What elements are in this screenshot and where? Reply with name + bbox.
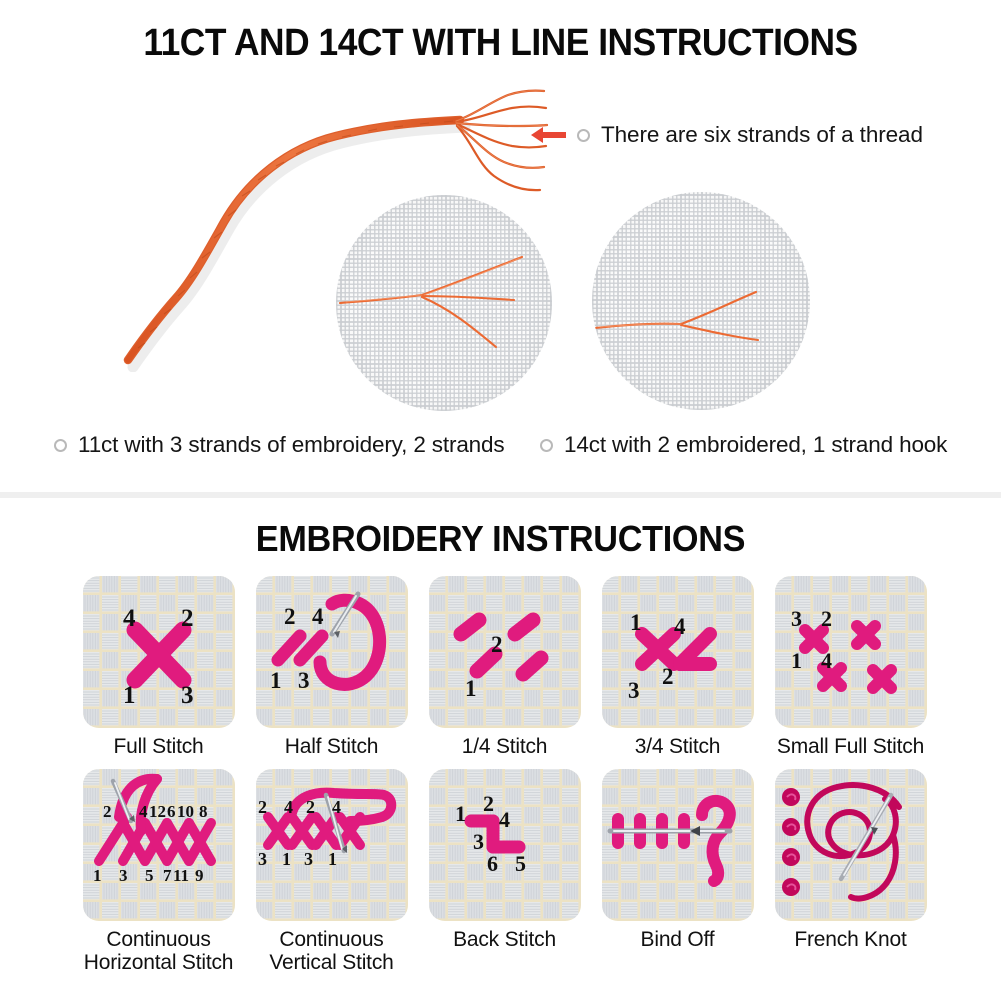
stitch-label-quarter-stitch: 1/4 Stitch bbox=[462, 735, 548, 759]
callout-six-strands: There are six strands of a thread bbox=[530, 122, 923, 148]
stitch-tile-quarter-stitch: 2 1 bbox=[429, 576, 581, 728]
fabric-swatch-14ct bbox=[592, 192, 810, 410]
ring-bullet-icon bbox=[54, 439, 67, 452]
arrow-left-icon bbox=[530, 125, 568, 145]
svg-text:3: 3 bbox=[298, 668, 310, 693]
svg-text:2: 2 bbox=[181, 605, 194, 632]
svg-text:5: 5 bbox=[145, 866, 154, 885]
stitch-grid: 4 2 1 3 Full Stitch bbox=[72, 576, 937, 975]
svg-text:4: 4 bbox=[123, 605, 136, 632]
stitch-cell-quarter-stitch: 2 1 1/4 Stitch bbox=[418, 576, 591, 759]
stitch-label-half-stitch: Half Stitch bbox=[285, 735, 379, 759]
svg-text:1: 1 bbox=[328, 849, 337, 869]
svg-text:10: 10 bbox=[177, 802, 194, 821]
caption-11ct: 11ct with 3 strands of embroidery, 2 str… bbox=[54, 432, 505, 458]
full-stitch-diagram: 4 2 1 3 bbox=[83, 576, 235, 728]
stitch-label-continuous-vertical-stitch: ContinuousVertical Stitch bbox=[269, 928, 393, 975]
svg-text:4: 4 bbox=[821, 648, 832, 673]
stitch-label-full-stitch: Full Stitch bbox=[114, 735, 204, 759]
stitch-cell-small-full-stitch: 3 2 1 4 Small Full Stitch bbox=[764, 576, 937, 759]
three-quarter-stitch-diagram: 1 4 2 3 bbox=[602, 576, 754, 728]
stitch-label-small-full-stitch: Small Full Stitch bbox=[777, 735, 924, 759]
stitch-cell-bind-off: Bind Off bbox=[591, 769, 764, 975]
svg-text:2: 2 bbox=[491, 632, 503, 657]
stitch-tile-half-stitch: 2 4 1 3 bbox=[256, 576, 408, 728]
svg-text:1: 1 bbox=[282, 849, 291, 869]
ring-bullet-icon bbox=[577, 129, 590, 142]
french-knot-dots bbox=[782, 788, 800, 896]
stitch-label-three-quarter-stitch: 3/4 Stitch bbox=[635, 735, 721, 759]
small-full-stitch-diagram: 3 2 1 4 bbox=[775, 576, 927, 728]
needle-icon bbox=[841, 795, 891, 879]
svg-text:4: 4 bbox=[284, 797, 293, 817]
french-knot-diagram bbox=[775, 769, 927, 921]
back-stitch-diagram: 1 2 4 3 6 5 bbox=[429, 769, 581, 921]
svg-text:8: 8 bbox=[199, 802, 208, 821]
caption-11ct-text: 11ct with 3 strands of embroidery, 2 str… bbox=[78, 432, 505, 458]
svg-text:2: 2 bbox=[306, 797, 315, 817]
stitch-tile-three-quarter-stitch: 1 4 2 3 bbox=[602, 576, 754, 728]
stitch-tile-full-stitch: 4 2 1 3 bbox=[83, 576, 235, 728]
svg-text:3: 3 bbox=[473, 829, 484, 854]
svg-text:4: 4 bbox=[312, 604, 324, 629]
svg-text:1: 1 bbox=[791, 648, 802, 673]
svg-text:4: 4 bbox=[139, 802, 148, 821]
svg-text:1: 1 bbox=[465, 676, 477, 701]
stitch-tile-continuous-vertical-stitch: 2 4 2 4 3 1 3 1 bbox=[256, 769, 408, 921]
thread-on-11ct-fabric bbox=[336, 195, 552, 411]
fabric-swatch-11ct bbox=[336, 195, 552, 411]
svg-text:2: 2 bbox=[483, 791, 494, 816]
svg-text:3: 3 bbox=[119, 866, 128, 885]
page-title-embroidery: EMBROIDERY INSTRUCTIONS bbox=[25, 518, 976, 560]
svg-text:1: 1 bbox=[93, 866, 102, 885]
svg-text:2: 2 bbox=[284, 604, 296, 629]
stitch-label-back-stitch: Back Stitch bbox=[453, 928, 556, 952]
svg-text:1: 1 bbox=[630, 610, 642, 635]
quarter-stitch-diagram: 2 1 bbox=[429, 576, 581, 728]
stitch-tile-continuous-horizontal-stitch: 2 412 610 8 1 3 5 711 9 bbox=[83, 769, 235, 921]
stitch-cell-french-knot: French Knot bbox=[764, 769, 937, 975]
callout-six-strands-text: There are six strands of a thread bbox=[601, 122, 923, 148]
svg-text:3: 3 bbox=[628, 678, 640, 703]
svg-text:12: 12 bbox=[149, 802, 166, 821]
svg-text:3: 3 bbox=[181, 682, 194, 709]
thread-on-14ct-fabric bbox=[592, 192, 810, 410]
svg-text:4: 4 bbox=[674, 614, 686, 639]
stitch-tile-small-full-stitch: 3 2 1 4 bbox=[775, 576, 927, 728]
stitch-label-bind-off: Bind Off bbox=[641, 928, 715, 952]
svg-text:3: 3 bbox=[304, 849, 313, 869]
svg-text:4: 4 bbox=[499, 807, 510, 832]
line-instructions-section: 11CT AND 14CT WITH LINE INSTRUCTIONS bbox=[0, 0, 1001, 492]
stitch-tile-bind-off bbox=[602, 769, 754, 921]
ring-bullet-icon bbox=[540, 439, 553, 452]
svg-text:7: 7 bbox=[163, 866, 172, 885]
embroidery-instructions-section: EMBROIDERY INSTRUCTIONS 4 2 1 3 bbox=[0, 498, 1001, 1001]
svg-text:2: 2 bbox=[821, 606, 832, 631]
stitch-cell-half-stitch: 2 4 1 3 Half Stitch bbox=[245, 576, 418, 759]
svg-text:3: 3 bbox=[258, 849, 267, 869]
caption-14ct: 14ct with 2 embroidered, 1 strand hook bbox=[540, 432, 947, 458]
svg-text:1: 1 bbox=[270, 668, 282, 693]
svg-text:2: 2 bbox=[662, 664, 674, 689]
bind-off-diagram bbox=[602, 769, 754, 921]
svg-text:6: 6 bbox=[167, 802, 176, 821]
svg-text:2: 2 bbox=[258, 797, 267, 817]
stitch-cell-continuous-horizontal-stitch: 2 412 610 8 1 3 5 711 9 ContinuousHorizo… bbox=[72, 769, 245, 975]
stitch-label-continuous-horizontal-stitch: ContinuousHorizontal Stitch bbox=[84, 928, 234, 975]
svg-text:6: 6 bbox=[487, 851, 498, 876]
continuous-vertical-stitch-diagram: 2 4 2 4 3 1 3 1 bbox=[256, 769, 408, 921]
svg-text:1: 1 bbox=[455, 801, 466, 826]
svg-text:4: 4 bbox=[332, 797, 341, 817]
svg-text:1: 1 bbox=[123, 682, 136, 709]
page-title-line-instructions: 11CT AND 14CT WITH LINE INSTRUCTIONS bbox=[35, 22, 966, 65]
svg-text:11: 11 bbox=[173, 866, 189, 885]
svg-text:9: 9 bbox=[195, 866, 204, 885]
svg-text:3: 3 bbox=[791, 606, 802, 631]
stitch-cell-three-quarter-stitch: 1 4 2 3 3/4 Stitch bbox=[591, 576, 764, 759]
instruction-sheet: 11CT AND 14CT WITH LINE INSTRUCTIONS bbox=[0, 0, 1001, 1001]
stitch-tile-french-knot bbox=[775, 769, 927, 921]
stitch-tile-back-stitch: 1 2 4 3 6 5 bbox=[429, 769, 581, 921]
svg-text:2: 2 bbox=[103, 802, 112, 821]
stitch-cell-continuous-vertical-stitch: 2 4 2 4 3 1 3 1 ContinuousVertical Stitc… bbox=[245, 769, 418, 975]
stitch-cell-full-stitch: 4 2 1 3 Full Stitch bbox=[72, 576, 245, 759]
svg-text:5: 5 bbox=[515, 851, 526, 876]
half-stitch-diagram: 2 4 1 3 bbox=[256, 576, 408, 728]
stitch-cell-back-stitch: 1 2 4 3 6 5 Back Stitch bbox=[418, 769, 591, 975]
continuous-horizontal-stitch-diagram: 2 412 610 8 1 3 5 711 9 bbox=[83, 769, 235, 921]
caption-14ct-text: 14ct with 2 embroidered, 1 strand hook bbox=[564, 432, 947, 458]
stitch-label-french-knot: French Knot bbox=[794, 928, 906, 952]
